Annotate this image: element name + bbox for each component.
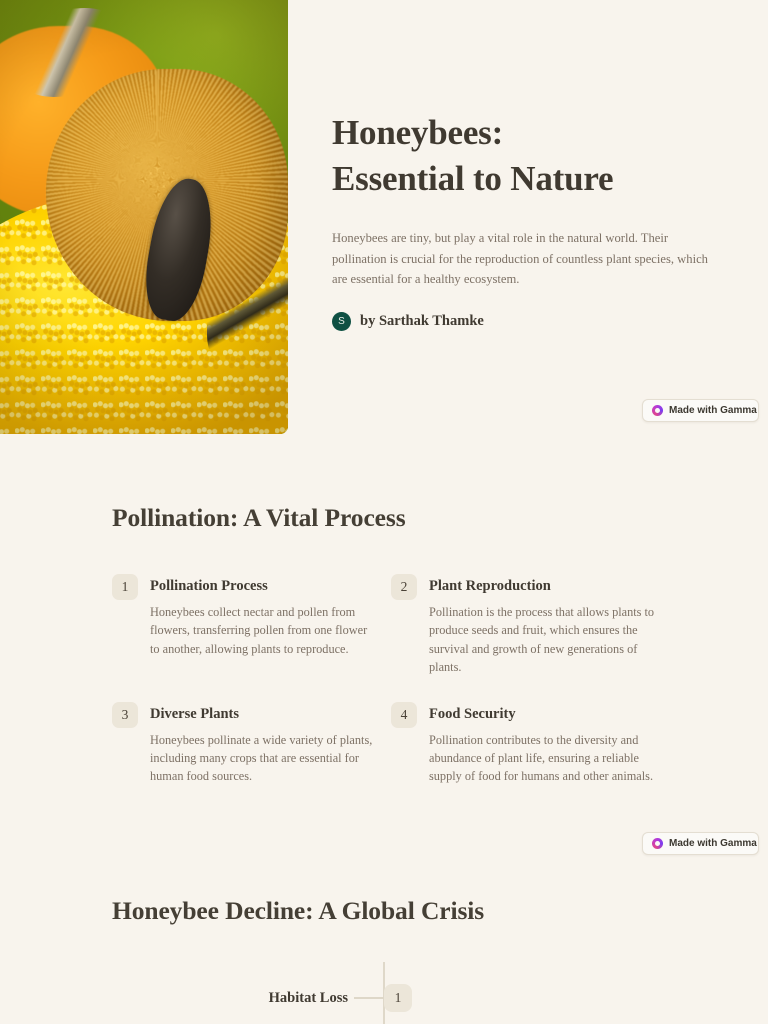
- list-item: 3 Diverse Plants Honeybees pollinate a w…: [112, 702, 391, 786]
- decline-timeline: Habitat Loss 1 The loss of natural habit…: [112, 962, 712, 1024]
- hero-bee-photo: [0, 0, 288, 434]
- author-byline: S by Sarthak Thamke: [332, 312, 722, 331]
- card-number-badge: 3: [112, 702, 138, 728]
- made-with-gamma-label: Made with Gamma: [669, 838, 757, 849]
- card-number-badge: 1: [112, 574, 138, 600]
- card-number-badge: 2: [391, 574, 417, 600]
- timeline-item-title: Habitat Loss: [269, 990, 348, 1006]
- card-number-badge: 4: [391, 702, 417, 728]
- pollination-heading: Pollination: A Vital Process: [112, 503, 712, 533]
- gamma-logo-icon: [652, 405, 663, 416]
- card-text: Honeybees pollinate a wide variety of pl…: [150, 731, 378, 786]
- list-item: 1 Pollination Process Honeybees collect …: [112, 574, 391, 676]
- card-title: Diverse Plants: [150, 705, 378, 723]
- page-title: Honeybees: Essential to Nature: [332, 110, 722, 202]
- timeline-connector: [354, 997, 384, 999]
- page-title-line-1: Honeybees:: [332, 113, 503, 152]
- list-item: 2 Plant Reproduction Pollination is the …: [391, 574, 670, 676]
- card-text: Honeybees collect nectar and pollen from…: [150, 603, 378, 658]
- card-text: Pollination contributes to the diversity…: [429, 731, 657, 786]
- made-with-gamma-badge[interactable]: Made with Gamma: [642, 399, 759, 422]
- hero-text-block: Honeybees: Essential to Nature Honeybees…: [332, 110, 722, 331]
- decline-heading: Honeybee Decline: A Global Crisis: [112, 896, 712, 926]
- card-title: Food Security: [429, 705, 657, 723]
- made-with-gamma-badge[interactable]: Made with Gamma: [642, 832, 759, 855]
- gamma-logo-icon: [652, 838, 663, 849]
- hero-subtitle: Honeybees are tiny, but play a vital rol…: [332, 228, 714, 289]
- avatar: S: [332, 312, 351, 331]
- card-title: Plant Reproduction: [429, 577, 657, 595]
- decline-section: Honeybee Decline: A Global Crisis Habita…: [112, 896, 712, 1024]
- list-item: 4 Food Security Pollination contributes …: [391, 702, 670, 786]
- card-text: Pollination is the process that allows p…: [429, 603, 657, 676]
- photo-vignette: [0, 0, 288, 434]
- author-name: by Sarthak Thamke: [360, 313, 484, 330]
- card-title: Pollination Process: [150, 577, 378, 595]
- page-title-line-2: Essential to Nature: [332, 159, 613, 198]
- pollination-cards-grid: 1 Pollination Process Honeybees collect …: [112, 574, 712, 786]
- hero-section: Honeybees: Essential to Nature Honeybees…: [0, 0, 768, 435]
- timeline-number-badge: 1: [384, 984, 412, 1012]
- made-with-gamma-label: Made with Gamma: [669, 405, 757, 416]
- timeline-item: Habitat Loss 1 The loss of natural habit…: [112, 984, 712, 1024]
- pollination-section: Pollination: A Vital Process 1 Pollinati…: [112, 503, 712, 786]
